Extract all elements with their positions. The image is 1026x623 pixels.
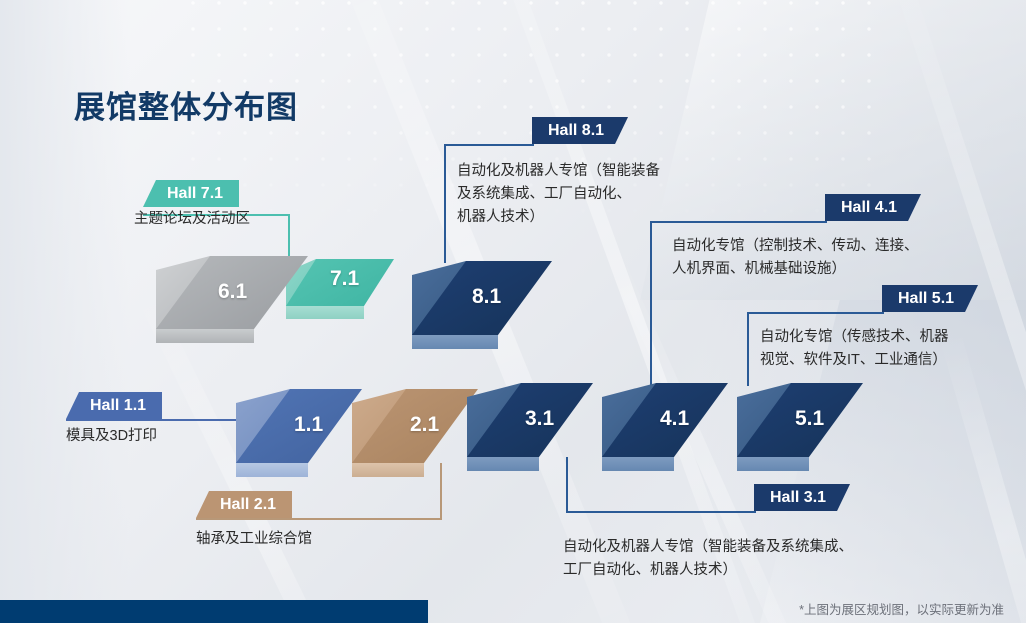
hall-number-2-1: 2.1 bbox=[410, 413, 439, 437]
connector-5-1-vertical bbox=[747, 312, 749, 386]
hall-description-7-1: 主题论坛及活动区 bbox=[134, 208, 374, 231]
connector-1-1-horizontal bbox=[66, 419, 252, 421]
bottom-accent-bar bbox=[0, 600, 428, 623]
hall-number-4-1: 4.1 bbox=[660, 407, 689, 431]
hall-chip-8-1[interactable]: Hall 8.1 bbox=[532, 117, 628, 144]
hall-slab-2-1-front bbox=[352, 463, 424, 477]
hall-slab-3-1[interactable]: 3.1 bbox=[467, 383, 593, 457]
connector-4-1-horizontal bbox=[650, 221, 827, 223]
connector-3-1-horizontal bbox=[566, 511, 756, 513]
hall-chip-5-1[interactable]: Hall 5.1 bbox=[882, 285, 978, 312]
connector-2-1-vertical bbox=[440, 463, 442, 520]
hall-chip-4-1[interactable]: Hall 4.1 bbox=[825, 194, 921, 221]
hall-number-6-1: 6.1 bbox=[218, 280, 247, 304]
hall-description-5-1: 自动化专馆（传感技术、机器 视觉、软件及IT、工业通信） bbox=[760, 326, 1010, 372]
hall-description-4-1: 自动化专馆（控制技术、传动、连接、 人机界面、机械基础设施） bbox=[672, 235, 1002, 281]
map-footnote: *上图为展区规划图，以实际更新为准 bbox=[799, 599, 1004, 618]
hall-slab-5-1[interactable]: 5.1 bbox=[737, 383, 863, 457]
hall-description-8-1: 自动化及机器人专馆（智能装备 及系统集成、工厂自动化、 机器人技术） bbox=[457, 160, 727, 229]
hall-slab-3-1-front bbox=[467, 457, 539, 471]
page-title: 展馆整体分布图 bbox=[74, 82, 298, 127]
hall-chip-1-1[interactable]: Hall 1.1 bbox=[66, 392, 162, 419]
hall-number-7-1: 7.1 bbox=[330, 267, 359, 291]
hall-chip-2-1[interactable]: Hall 2.1 bbox=[196, 491, 292, 518]
hall-description-2-1: 轴承及工业综合馆 bbox=[196, 528, 416, 551]
connector-4-1-vertical bbox=[650, 221, 652, 385]
connector-8-1-horizontal bbox=[444, 144, 534, 146]
hall-slab-1-1[interactable]: 1.1 bbox=[236, 389, 362, 463]
hall-slab-8-1[interactable]: 8.1 bbox=[412, 261, 552, 335]
hall-slab-4-1-front bbox=[602, 457, 674, 471]
hall-slab-5-1-front bbox=[737, 457, 809, 471]
hall-slab-2-1[interactable]: 2.1 bbox=[352, 389, 478, 463]
hall-slab-6-1-front bbox=[156, 329, 254, 343]
connector-2-1-horizontal bbox=[196, 518, 442, 520]
hall-slab-6-1[interactable]: 6.1 bbox=[156, 256, 308, 329]
hall-number-3-1: 3.1 bbox=[525, 407, 554, 431]
connector-8-1-vertical bbox=[444, 144, 446, 263]
connector-3-1-vertical bbox=[566, 457, 568, 513]
hall-number-8-1: 8.1 bbox=[472, 285, 501, 309]
hall-chip-7-1[interactable]: Hall 7.1 bbox=[143, 180, 239, 207]
hall-slab-1-1-front bbox=[236, 463, 308, 477]
exhibition-hall-map: 展馆整体分布图 Hall 7.1 主题论坛及活动区 7.1 6.1 Hall 8… bbox=[0, 0, 1026, 623]
hall-slab-4-1[interactable]: 4.1 bbox=[602, 383, 728, 457]
hall-chip-3-1[interactable]: Hall 3.1 bbox=[754, 484, 850, 511]
connector-5-1-horizontal bbox=[747, 312, 884, 314]
hall-number-5-1: 5.1 bbox=[795, 407, 824, 431]
hall-slab-8-1-front bbox=[412, 335, 498, 349]
hall-number-1-1: 1.1 bbox=[294, 413, 323, 437]
hall-description-3-1: 自动化及机器人专馆（智能装备及系统集成、 工厂自动化、机器人技术） bbox=[563, 536, 913, 582]
